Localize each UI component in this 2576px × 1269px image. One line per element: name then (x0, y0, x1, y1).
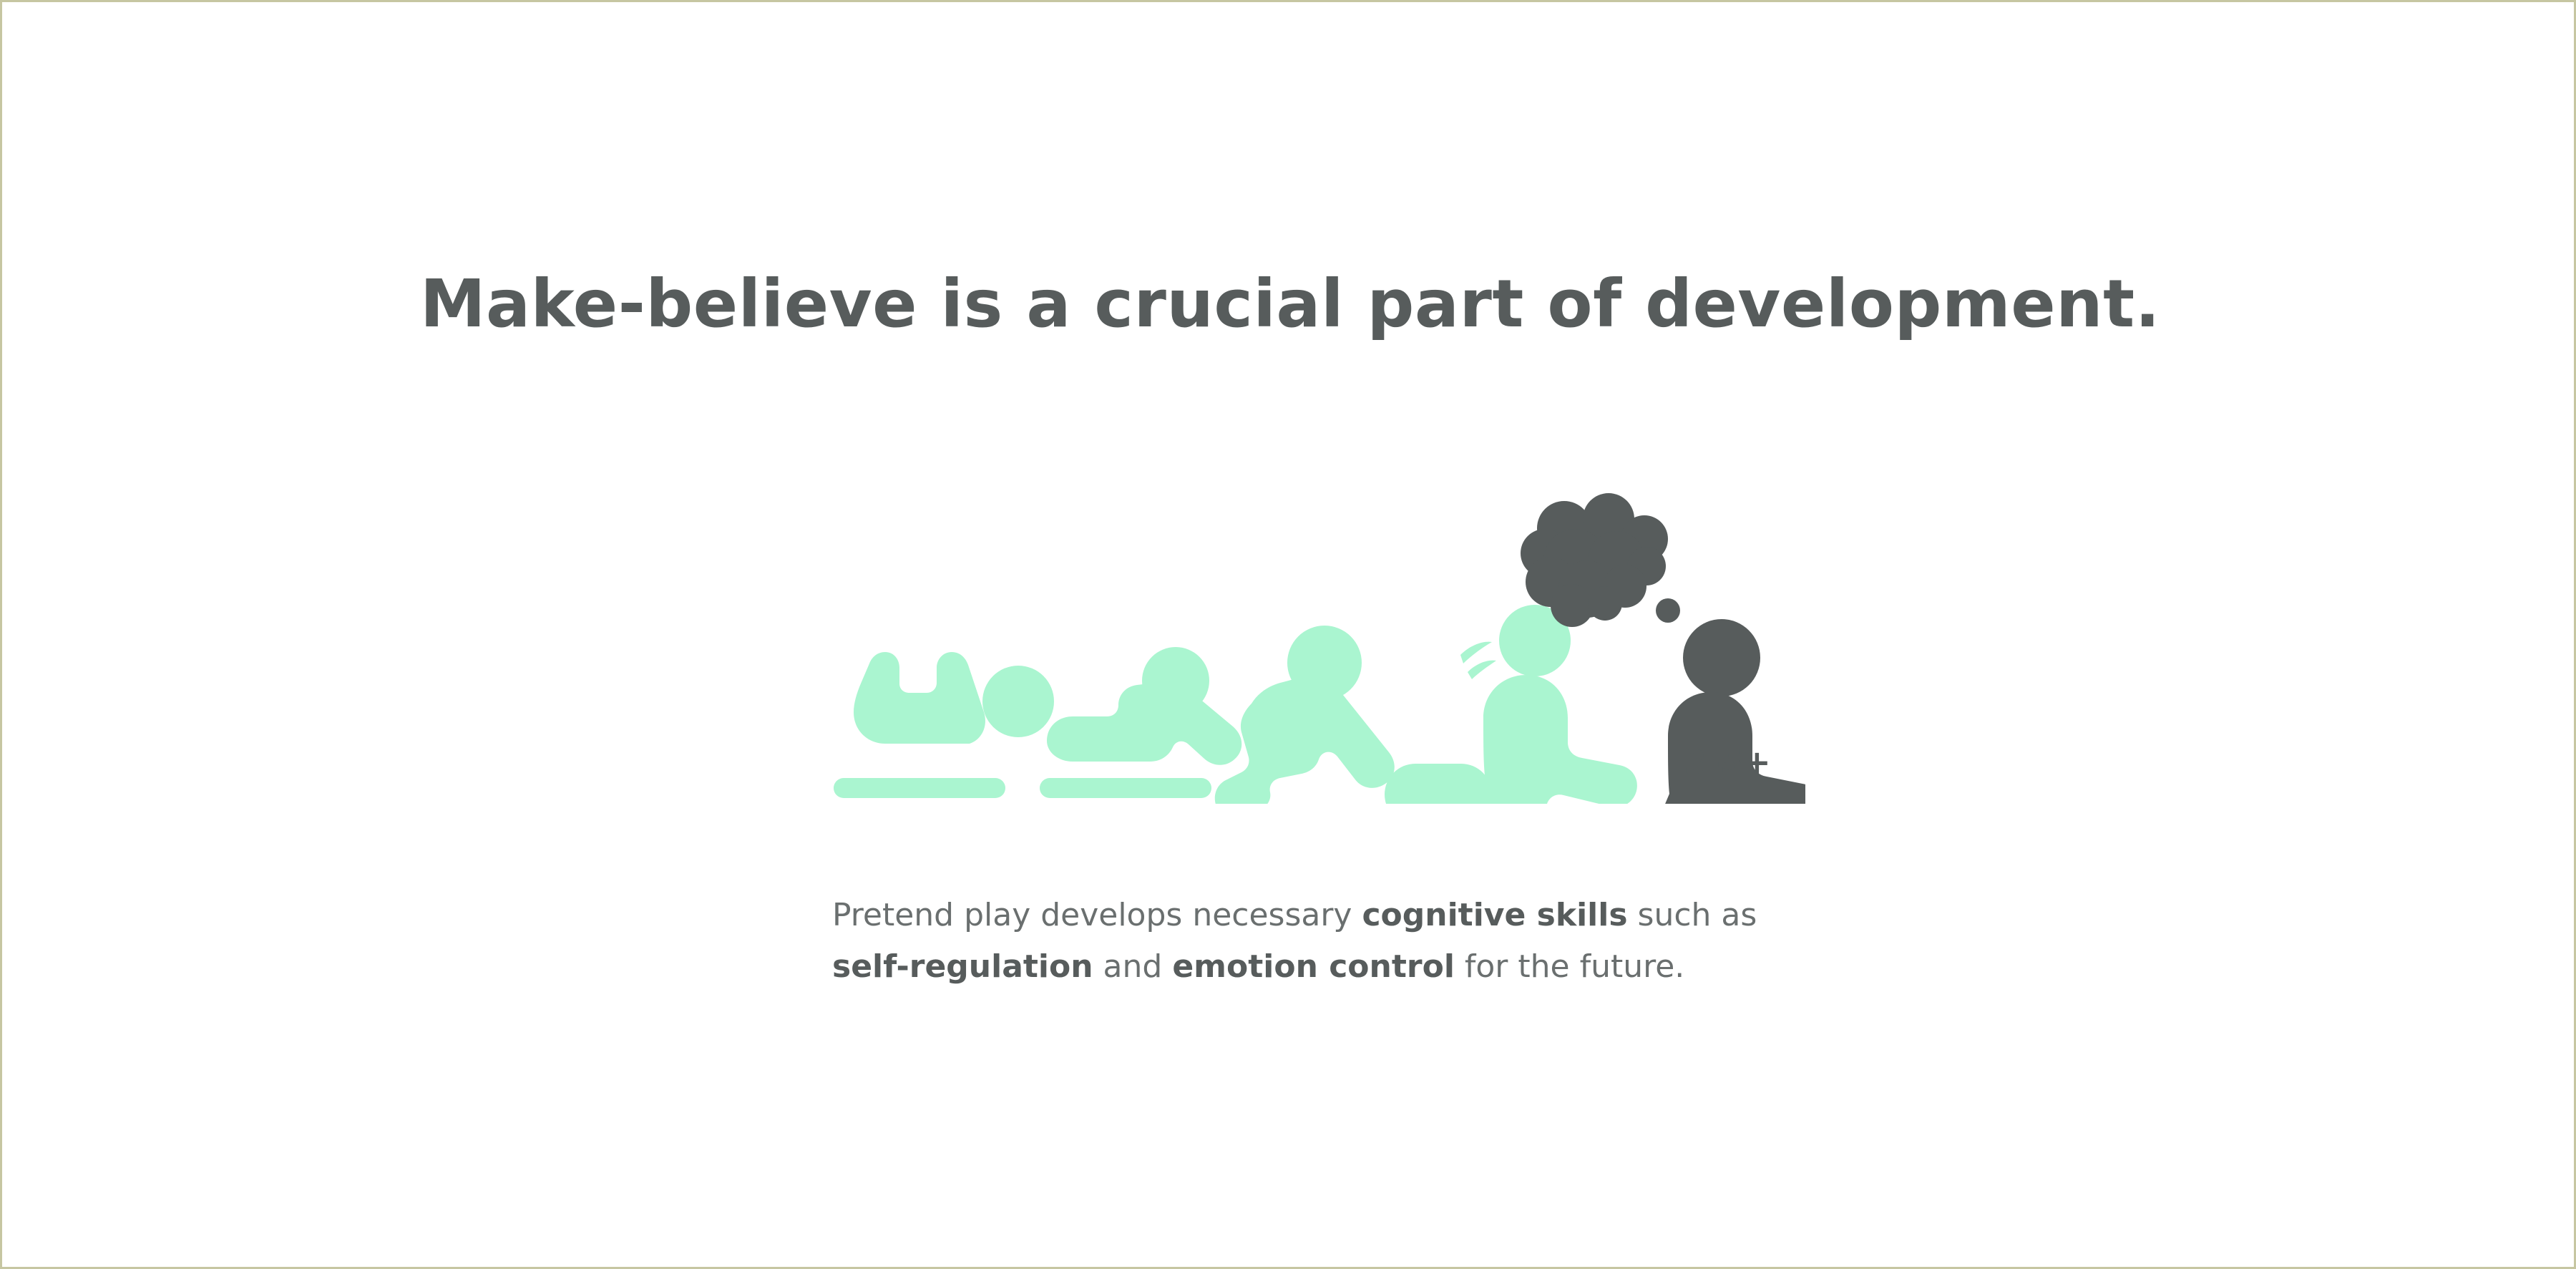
baby-lying-on-back-icon (834, 652, 1054, 798)
baby-crawling-icon (1215, 626, 1492, 804)
age-range-label: 3-5+ (1684, 743, 1771, 782)
baby-on-tummy-icon (1040, 647, 1241, 798)
development-stages-illustration (804, 489, 1805, 804)
body-line-1: Pretend play develops necessary cognitiv… (832, 890, 1834, 941)
body-text-2: such as (1628, 897, 1757, 933)
body-bold-self-regulation: self-regulation (832, 948, 1093, 985)
body-line-2: self-regulation and emotion control for … (832, 941, 1834, 993)
slide-canvas: Make-believe is a crucial part of develo… (0, 0, 2576, 1269)
ground-bar (834, 778, 1005, 798)
body-text-3: and (1093, 948, 1173, 985)
page-title: Make-believe is a crucial part of develo… (2, 266, 2576, 342)
body-text-1: Pretend play develops necessary (832, 897, 1362, 933)
ground-bar (1040, 778, 1211, 798)
body-text-4: for the future. (1455, 948, 1684, 985)
body-bold-emotion-control: emotion control (1172, 948, 1455, 985)
body-bold-cognitive-skills: cognitive skills (1362, 897, 1627, 933)
body-description: Pretend play develops necessary cognitiv… (832, 890, 1834, 993)
